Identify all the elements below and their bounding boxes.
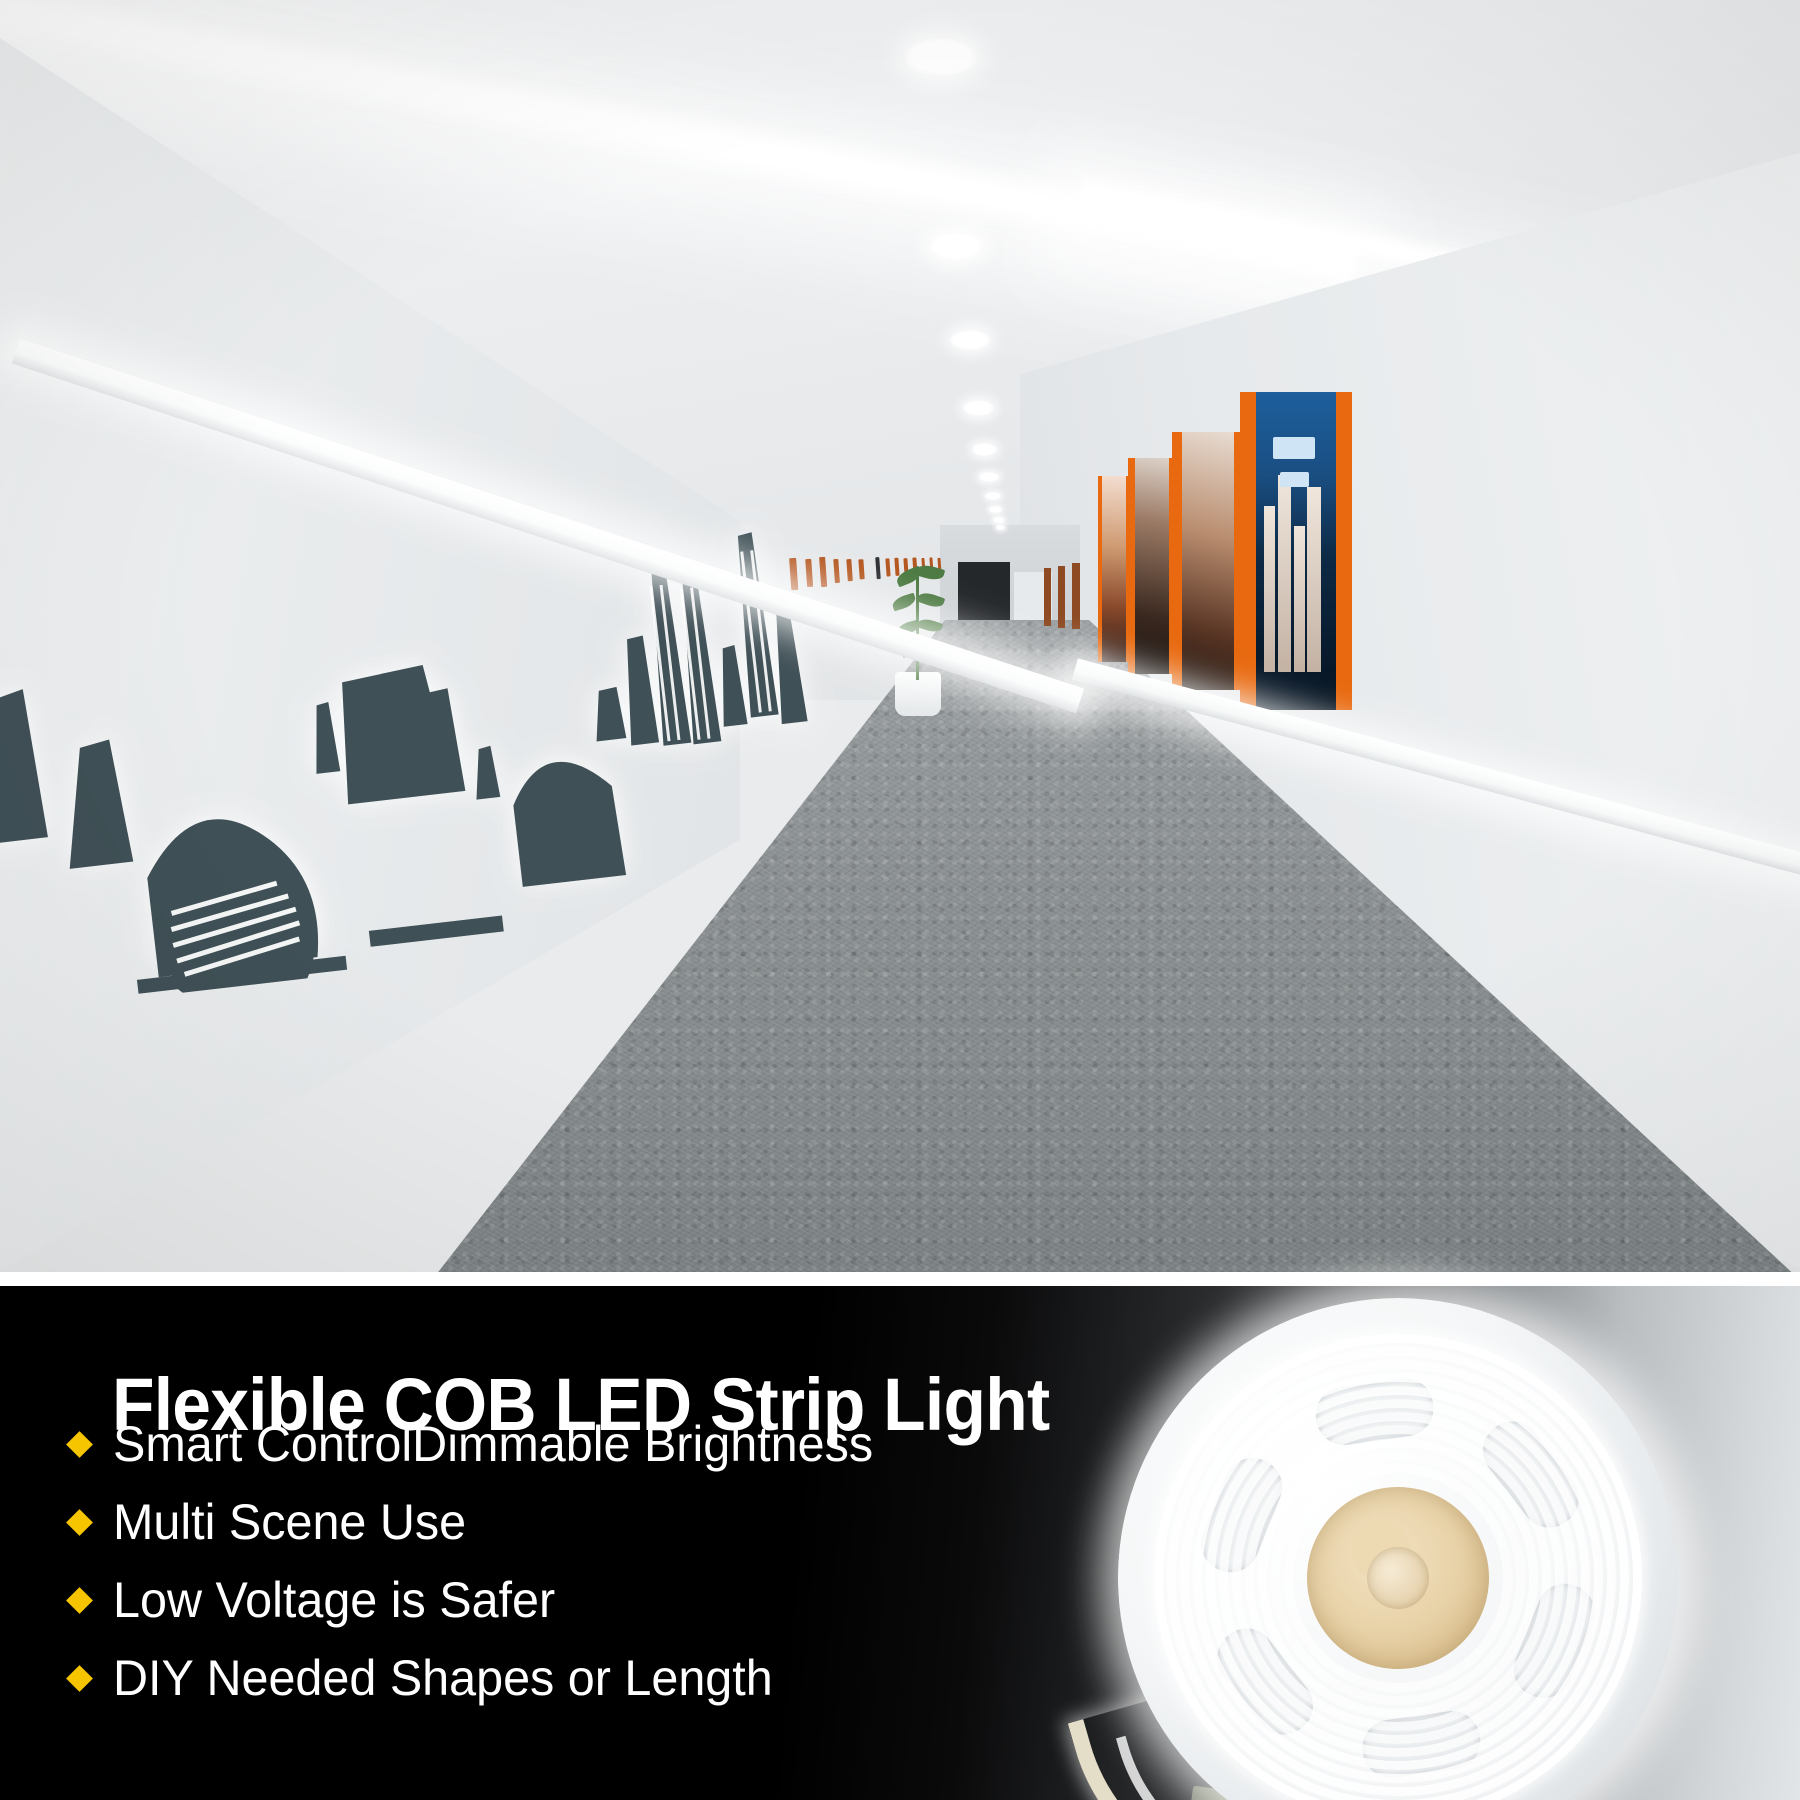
product-listing-image: Flexible COB LED Strip Light Smart Contr…: [0, 0, 1800, 1800]
recessed-downlight: [963, 400, 994, 416]
diamond-bullet-icon: [66, 1665, 93, 1692]
feature-bullet: Multi Scene Use: [70, 1483, 897, 1561]
recessed-downlight: [996, 525, 1005, 530]
wall-poster: [1240, 392, 1352, 710]
poster-border: [1336, 392, 1352, 710]
poster-artwork: [1102, 476, 1125, 662]
far-poster: [1058, 566, 1065, 628]
corridor-photo: [0, 0, 1800, 1272]
poster-border: [1126, 476, 1130, 662]
recessed-downlight: [972, 443, 997, 456]
diamond-bullet-icon: [66, 1431, 93, 1458]
recessed-downlight: [989, 506, 1002, 513]
far-poster: [1044, 568, 1051, 626]
poster-border: [1234, 432, 1244, 690]
poster-artwork: [1135, 458, 1170, 674]
poster-artwork: [1182, 432, 1234, 690]
recessed-downlight: [985, 492, 1001, 500]
recessed-downlight: [993, 517, 1004, 523]
poster-artwork: [1256, 392, 1337, 710]
recessed-downlight: [950, 330, 990, 350]
feature-bullet-list: Smart ControlDimmable BrightnessMulti Sc…: [70, 1405, 897, 1717]
feature-bullet: Smart ControlDimmable Brightness: [70, 1405, 897, 1483]
feature-bullet-label: Smart ControlDimmable Brightness: [113, 1415, 873, 1473]
feature-bullet-label: DIY Needed Shapes or Length: [113, 1649, 773, 1707]
recessed-downlight: [979, 472, 999, 482]
far-poster: [1072, 563, 1080, 629]
recessed-downlight: [930, 233, 982, 260]
diamond-bullet-icon: [66, 1587, 93, 1614]
wall-poster: [1098, 476, 1130, 662]
wall-poster: [1128, 458, 1176, 674]
wall-poster: [1172, 432, 1244, 690]
feature-bullet-label: Low Voltage is Safer: [113, 1571, 555, 1629]
led-strip-reel-photo: [1040, 1240, 1800, 1800]
recessed-downlight: [905, 38, 977, 76]
poster-border: [1169, 458, 1176, 674]
reel-flange: [1082, 1262, 1714, 1800]
feature-bullet-label: Multi Scene Use: [113, 1493, 466, 1551]
feature-bullet: DIY Needed Shapes or Length: [70, 1639, 897, 1717]
diamond-bullet-icon: [66, 1509, 93, 1536]
feature-bullet: Low Voltage is Safer: [70, 1561, 897, 1639]
